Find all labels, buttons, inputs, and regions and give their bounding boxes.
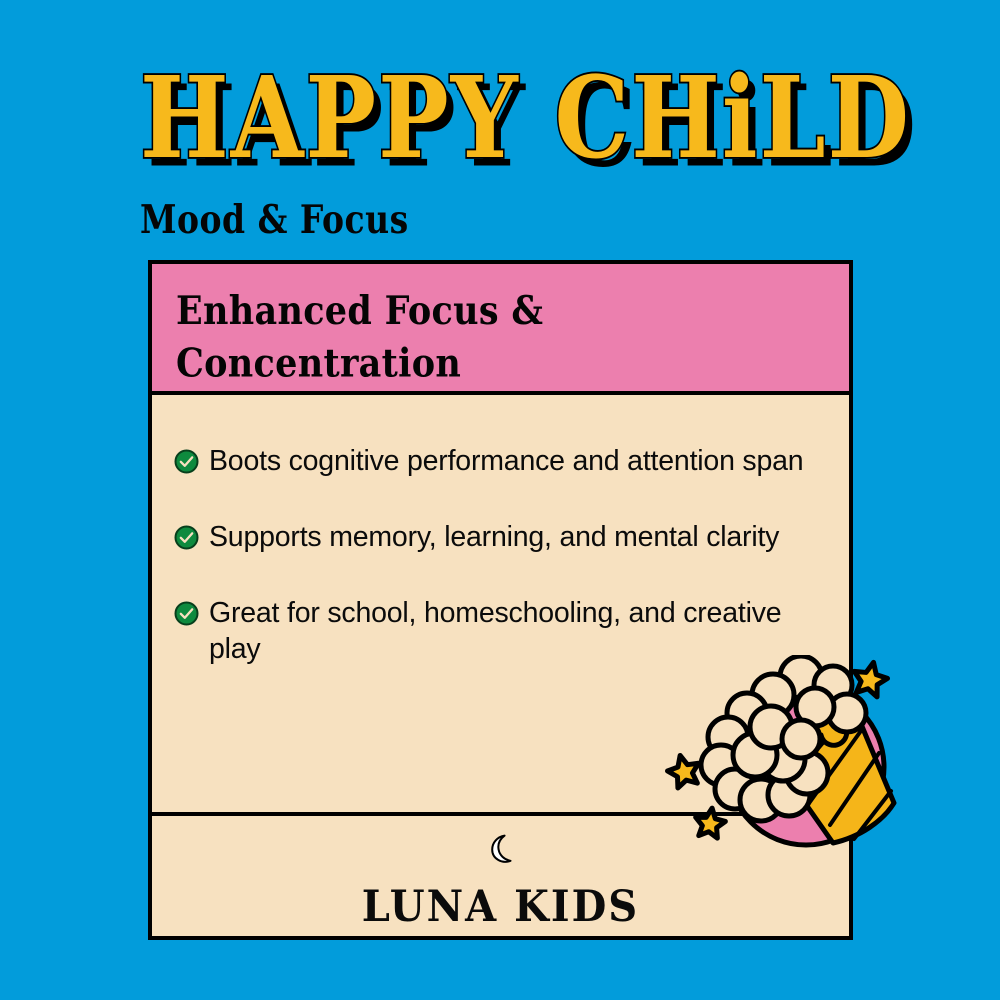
star-icon [850, 659, 890, 698]
list-item: Great for school, homeschooling, and cre… [174, 595, 823, 669]
benefit-text: Supports memory, learning, and mental cl… [209, 519, 779, 556]
benefit-list: Boots cognitive performance and attentio… [152, 395, 849, 668]
card-header: Enhanced Focus & Concentration [152, 264, 849, 395]
list-item: Supports memory, learning, and mental cl… [174, 519, 823, 556]
check-circle-icon [174, 525, 199, 550]
check-circle-icon [174, 601, 199, 626]
page-subtitle: Mood & Focus [140, 200, 900, 239]
crescent-moon-icon [152, 830, 849, 877]
check-circle-icon [174, 449, 199, 474]
benefit-card: Enhanced Focus & Concentration Boots cog… [148, 260, 853, 940]
benefit-text: Great for school, homeschooling, and cre… [209, 595, 823, 669]
card-header-title: Enhanced Focus & Concentration [176, 286, 825, 390]
page-title: HAPPY CHiLD [140, 62, 915, 174]
brand-logo: LUNA KIDS [152, 830, 849, 930]
list-item: Boots cognitive performance and attentio… [174, 443, 823, 480]
poster-canvas: HAPPY CHiLD Mood & Focus Enhanced Focus … [0, 0, 1000, 1000]
card-divider [152, 812, 849, 816]
poster-header: HAPPY CHiLD Mood & Focus [140, 62, 900, 233]
brand-name: LUNA KIDS [152, 881, 849, 932]
benefit-text: Boots cognitive performance and attentio… [209, 443, 803, 480]
